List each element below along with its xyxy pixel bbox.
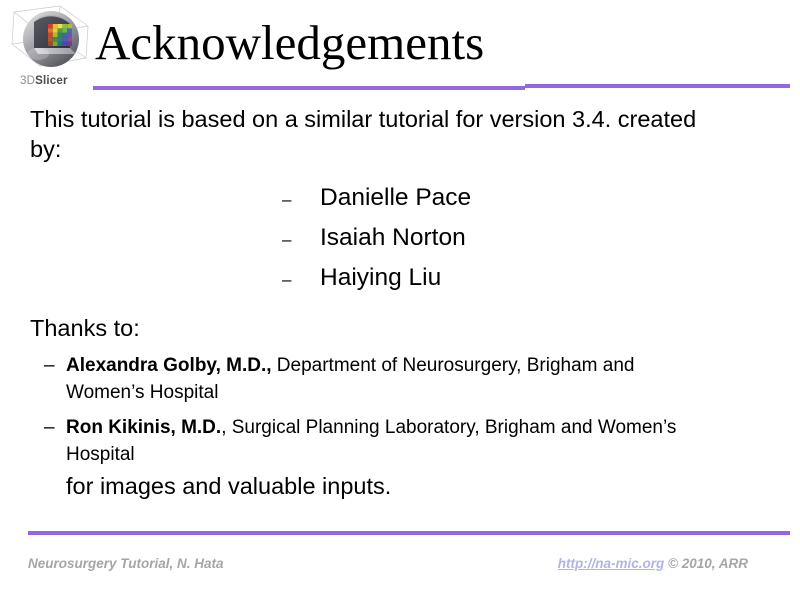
bullet-dash-icon: – bbox=[282, 271, 320, 288]
bullet-dash-icon: – bbox=[44, 352, 66, 379]
contributor-name: Danielle Pace bbox=[320, 186, 471, 211]
list-item: – Alexandra Golby, M.D., Department of N… bbox=[44, 352, 744, 406]
bullet-dash-icon: – bbox=[44, 414, 66, 441]
slicer-wordmark: 3DSlicer bbox=[20, 76, 68, 88]
title-divider-right bbox=[525, 84, 790, 88]
contributor-list: – Danielle Pace – Isaiah Norton – Haiyin… bbox=[282, 186, 742, 306]
page-title: Acknowledgements bbox=[95, 12, 484, 74]
title-divider-left bbox=[93, 86, 525, 90]
na-mic-link[interactable]: http://na-mic.org bbox=[558, 556, 665, 571]
contributor-name: Haiying Liu bbox=[320, 266, 441, 291]
bullet-dash-icon: – bbox=[282, 191, 320, 208]
wordmark-prefix: 3D bbox=[20, 75, 35, 87]
thanks-heading: Thanks to: bbox=[30, 314, 140, 342]
list-item: – Haiying Liu bbox=[282, 266, 742, 306]
footer-divider bbox=[28, 531, 790, 535]
3d-slicer-sphere-icon bbox=[8, 4, 94, 76]
footer-credits: http://na-mic.org © 2010, ARR bbox=[558, 556, 748, 571]
slicer-logo: 3DSlicer bbox=[8, 4, 94, 96]
person-name: Ron Kikinis, M.D. bbox=[66, 417, 221, 438]
intro-paragraph: This tutorial is based on a similar tuto… bbox=[30, 104, 730, 164]
acknowledgement-list: – Alexandra Golby, M.D., Department of N… bbox=[44, 352, 744, 476]
acknowledgement-entry: Alexandra Golby, M.D., Department of Neu… bbox=[66, 352, 714, 406]
closing-statement: for images and valuable inputs. bbox=[66, 472, 391, 500]
list-item: – Ron Kikinis, M.D., Surgical Planning L… bbox=[44, 414, 744, 468]
logo-color-grid bbox=[48, 24, 72, 46]
copyright-label: © 2010, ARR bbox=[664, 556, 748, 571]
acknowledgement-entry: Ron Kikinis, M.D., Surgical Planning Lab… bbox=[66, 414, 714, 468]
list-item: – Isaiah Norton bbox=[282, 226, 742, 266]
contributor-name: Isaiah Norton bbox=[320, 226, 466, 251]
bullet-dash-icon: – bbox=[282, 231, 320, 248]
footer-tutorial-label: Neurosurgery Tutorial, N. Hata bbox=[28, 556, 224, 571]
list-item: – Danielle Pace bbox=[282, 186, 742, 226]
wordmark-suffix: Slicer bbox=[35, 75, 68, 87]
slide-canvas: 3DSlicer Acknowledgements This tutorial … bbox=[0, 0, 800, 600]
person-name: Alexandra Golby, M.D., bbox=[66, 355, 272, 376]
